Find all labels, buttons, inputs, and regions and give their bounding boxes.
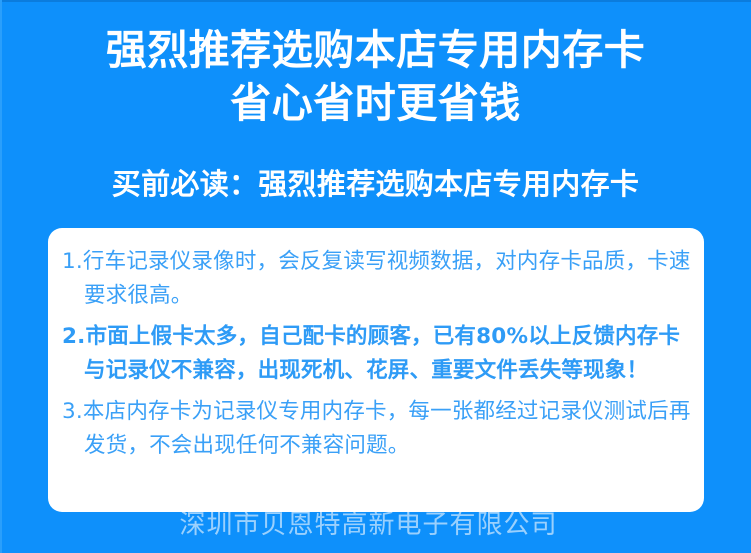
notice-card: 1.行车记录仪录像时，会反复读写视频数据，对内存卡品质，卡速要求很高。 2.市面…: [48, 228, 704, 512]
notice-item-2: 2.市面上假卡太多，自己配卡的顾客，已有80%以上反馈内存卡与记录仪不兼容，出现…: [62, 320, 692, 388]
notice-item-1: 1.行车记录仪录像时，会反复读写视频数据，对内存卡品质，卡速要求很高。: [62, 245, 692, 313]
notice-item-3: 3.本店内存卡为记录仪专用内存卡，每一张都经过记录仪测试后再发货，不会出现任何不…: [62, 395, 692, 463]
headline-block: 强烈推荐选购本店专用内存卡 省心省时更省钱: [0, 24, 751, 130]
headline-line-2: 省心省时更省钱: [0, 77, 751, 130]
promo-banner: 强烈推荐选购本店专用内存卡 省心省时更省钱 买前必读：强烈推荐选购本店专用内存卡…: [0, 0, 751, 553]
headline-line-1: 强烈推荐选购本店专用内存卡: [0, 24, 751, 77]
subheadline: 买前必读：强烈推荐选购本店专用内存卡: [0, 164, 751, 204]
company-watermark: 深圳市贝恩特高新电子有限公司: [0, 508, 751, 542]
